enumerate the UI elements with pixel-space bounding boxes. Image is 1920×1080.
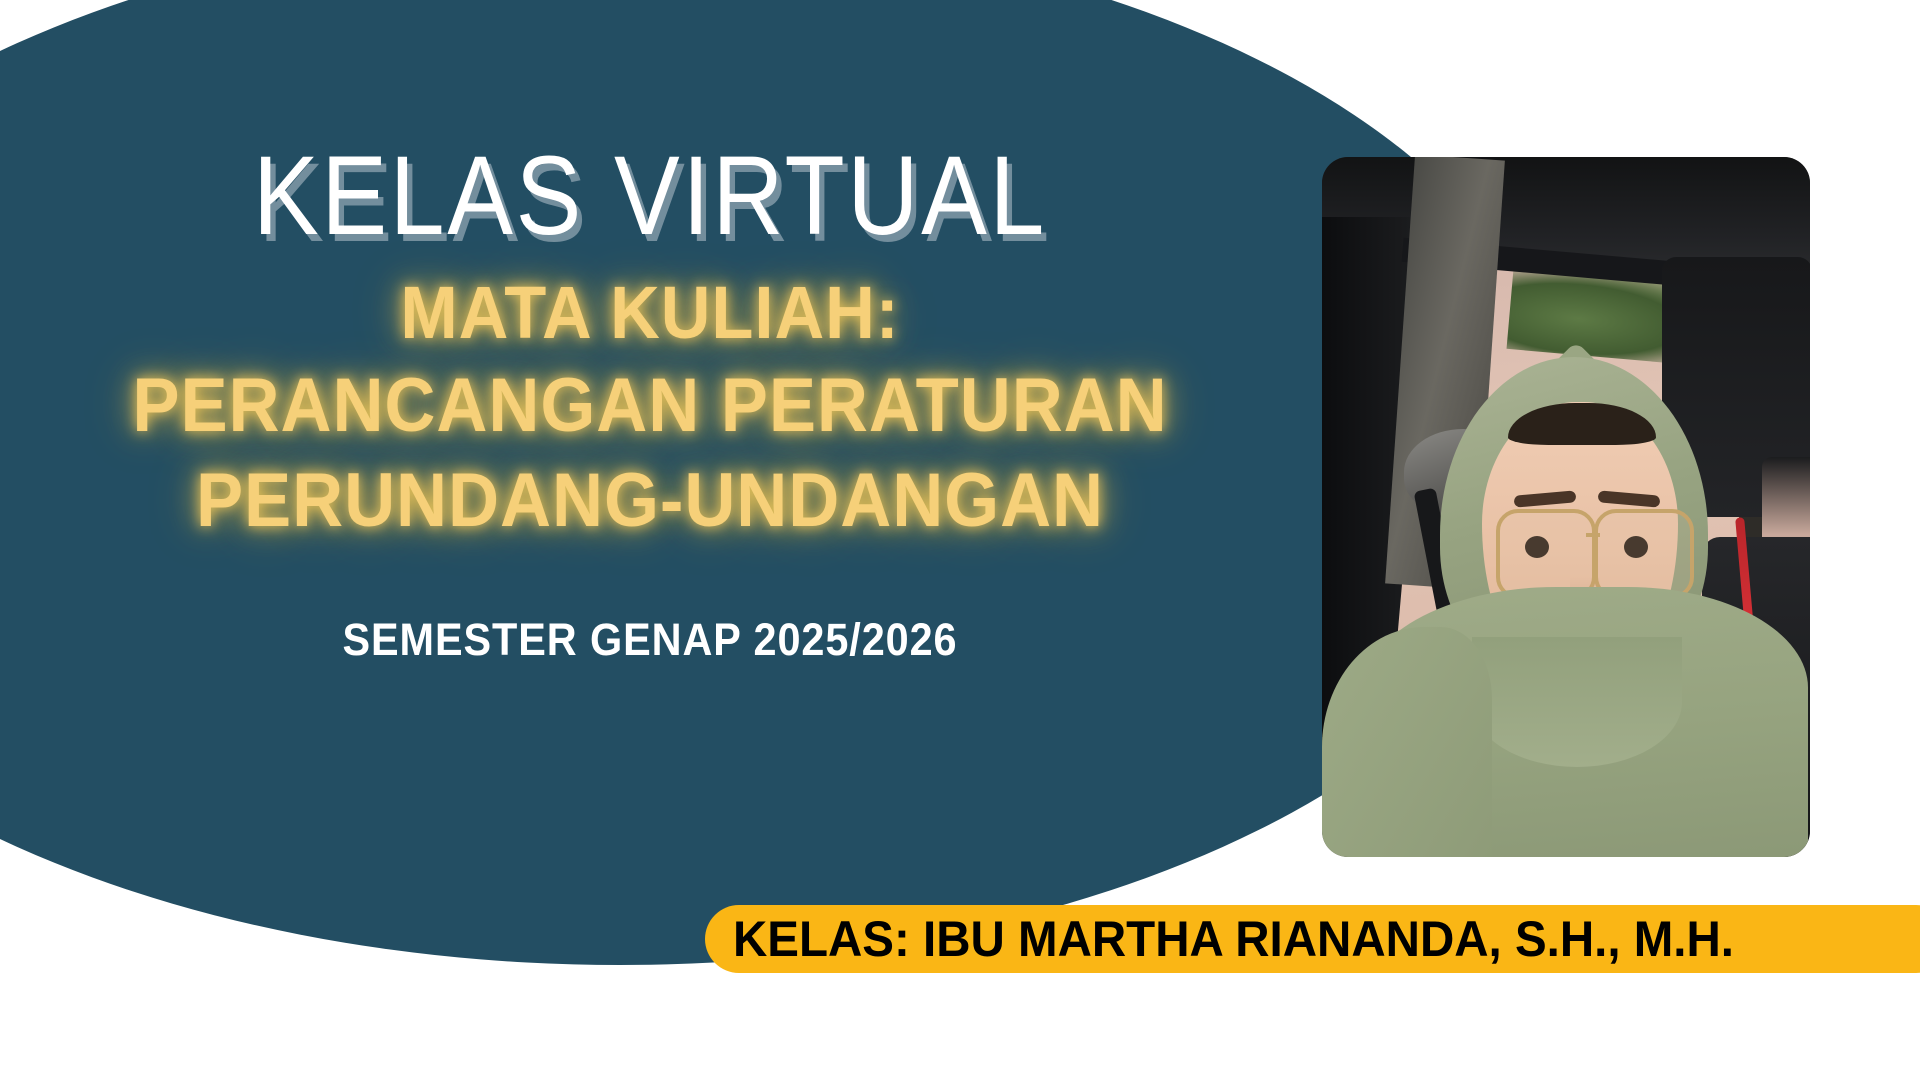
subject-label: MATA KULIAH: [46, 274, 1255, 352]
instructor-name-label: KELAS: IBU MARTHA RIANANDA, S.H., M.H. [733, 910, 1734, 968]
title-text-column: KELAS VIRTUAL MATA KULIAH: PERANCANGAN P… [0, 140, 1300, 666]
instructor-photo [1322, 157, 1810, 857]
photo-eyeglass-right [1594, 509, 1694, 599]
photo-eyeglass-bridge [1586, 533, 1600, 537]
subject-line-3: PERUNDANG-UNDANGAN [46, 461, 1255, 542]
instructor-name-banner: KELAS: IBU MARTHA RIANANDA, S.H., M.H. [705, 905, 1920, 973]
semester-label: SEMESTER GENAP 2025/2026 [52, 614, 1248, 666]
photo-hijab-fold [1472, 637, 1682, 767]
subject-line-2: PERANCANGAN PERATURAN [46, 366, 1255, 447]
slide-canvas: KELAS VIRTUAL MATA KULIAH: PERANCANGAN P… [0, 0, 1920, 1080]
page-title: KELAS VIRTUAL [78, 140, 1222, 252]
